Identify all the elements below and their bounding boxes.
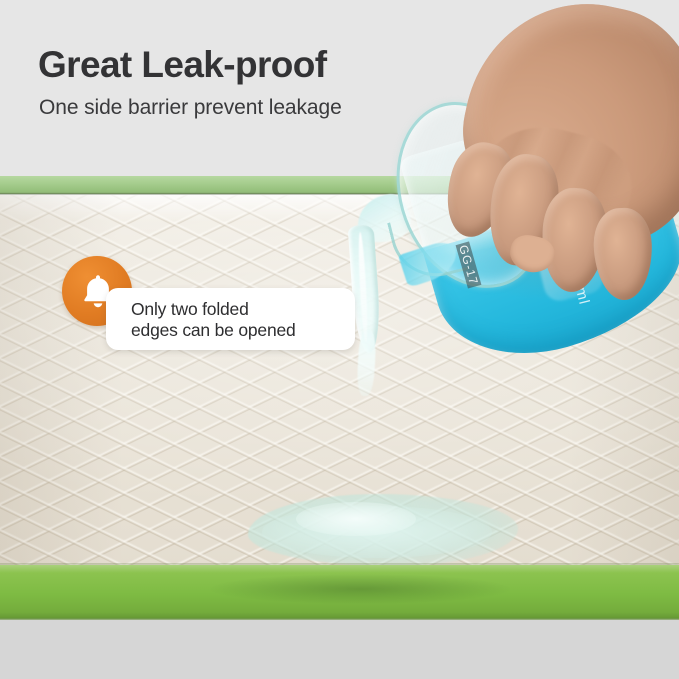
callout-line-1: Only two folded [131,299,249,319]
callout-line-2: edges can be opened [131,320,351,341]
water-puddle-highlight [296,502,416,536]
product-feature-image: Great Leak-proof One side barrier preven… [0,0,679,679]
beaker-and-hand: 500 APPROX 400 300 GG-17 500ml [388,96,679,356]
page-subtitle: One side barrier prevent leakage [39,96,342,120]
page-title: Great Leak-proof [38,44,327,86]
callout-text: Only two folded edges can be opened [131,299,351,341]
footer-background [0,620,679,679]
mat-bottom-edge-wet-patch [210,574,510,604]
